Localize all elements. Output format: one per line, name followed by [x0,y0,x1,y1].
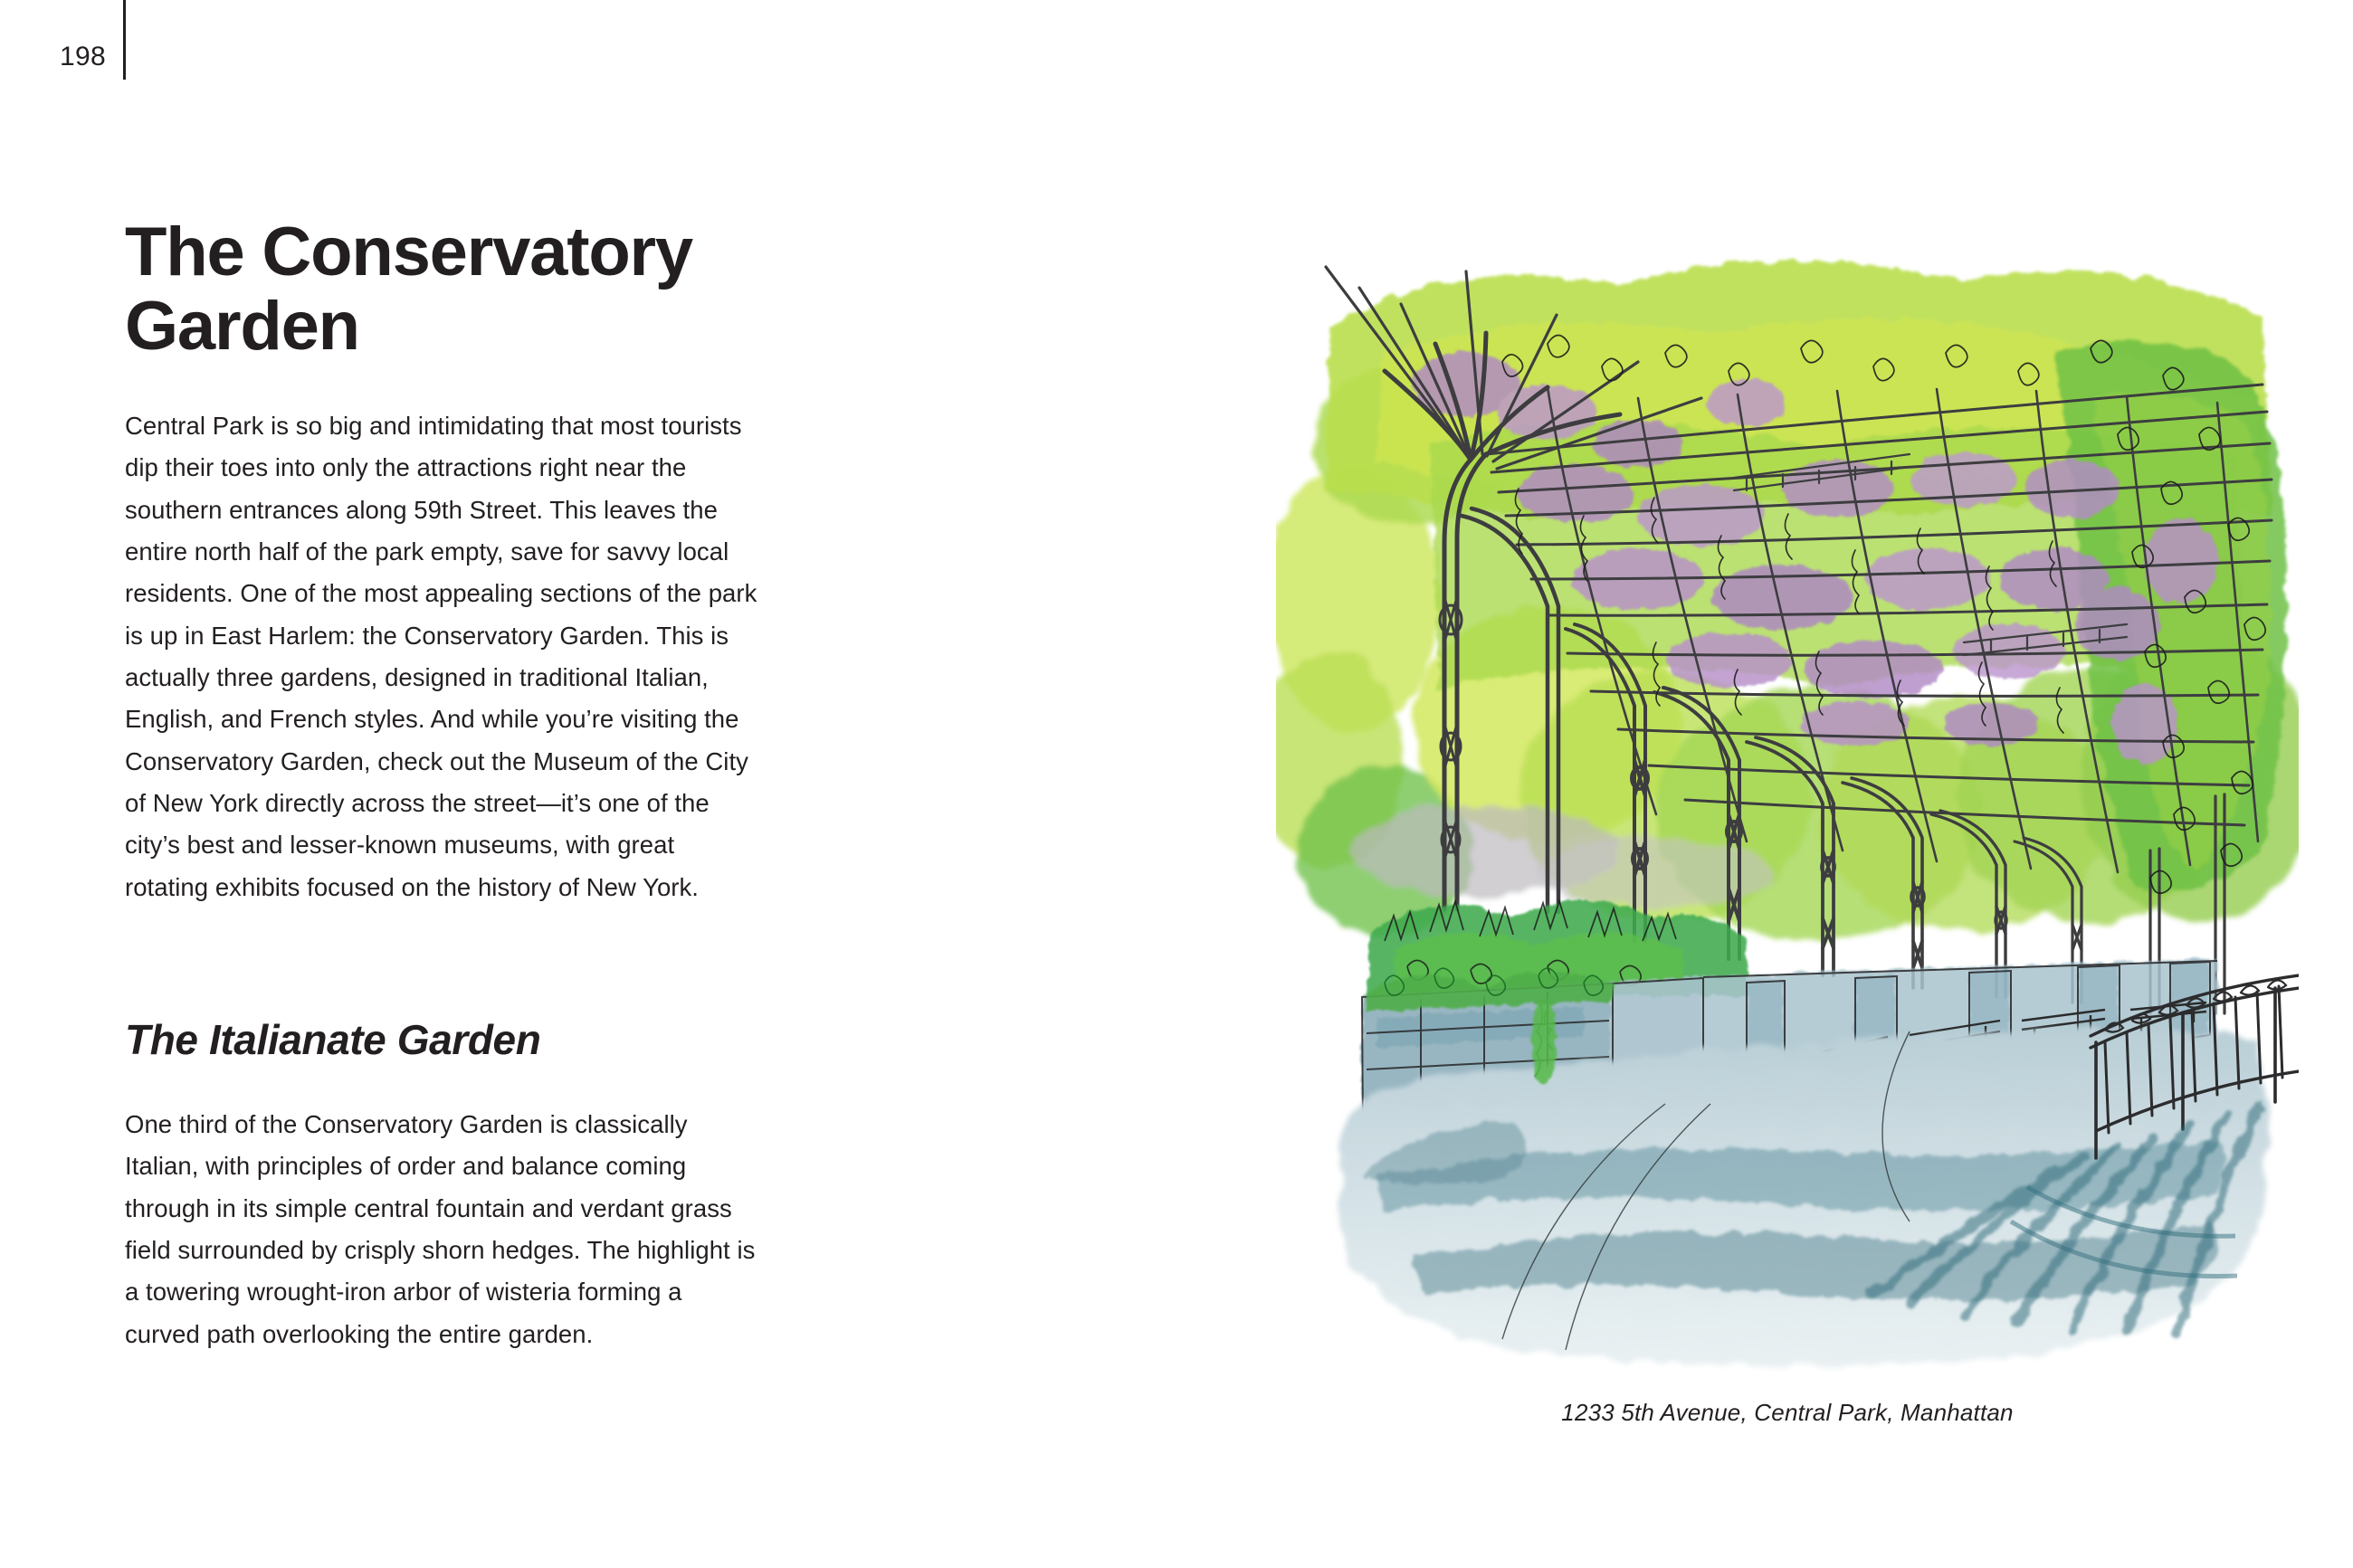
article-text-column: The Conservatory Garden Central Park is … [125,215,758,1355]
section-heading: The Italianate Garden [125,1015,758,1064]
page-number: 198 [60,43,106,71]
page-folio: 198 [0,0,145,136]
folio-rule [123,0,126,80]
page-title: The Conservatory Garden [125,215,758,364]
illustration-figure: 1233 5th Avenue, Central Park, Manhattan [1276,217,2299,1427]
planter-vine-wash [1531,997,1557,1084]
wisteria-pergola-illustration [1276,217,2299,1384]
section-paragraph: One third of the Conservatory Garden is … [125,1104,758,1355]
intro-paragraph: Central Park is so big and intimidating … [125,405,758,908]
figure-caption: 1233 5th Avenue, Central Park, Manhattan [1276,1399,2299,1427]
